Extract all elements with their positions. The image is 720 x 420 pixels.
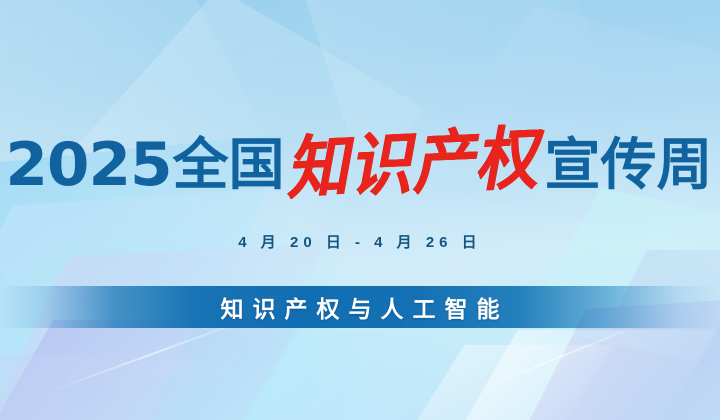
title-year: 2025 — [6, 135, 172, 195]
title-highlight-calligraphy: 知识产权 — [285, 125, 540, 204]
slogan-text: 知识产权与人工智能 — [212, 290, 509, 324]
banner-title: 2025 全国 知识产权 宣传周 — [0, 123, 720, 207]
banner-content: 2025 全国 知识产权 宣传周 4 月 20 日 - 4 月 26 日 知识产… — [0, 0, 720, 420]
title-suffix: 宣传周 — [545, 137, 713, 193]
promotional-banner: 2025 全国 知识产权 宣传周 4 月 20 日 - 4 月 26 日 知识产… — [0, 0, 720, 420]
date-range: 4 月 20 日 - 4 月 26 日 — [0, 231, 720, 252]
title-scope: 全国 — [172, 137, 284, 193]
slogan-band: 知识产权与人工智能 — [0, 286, 720, 328]
